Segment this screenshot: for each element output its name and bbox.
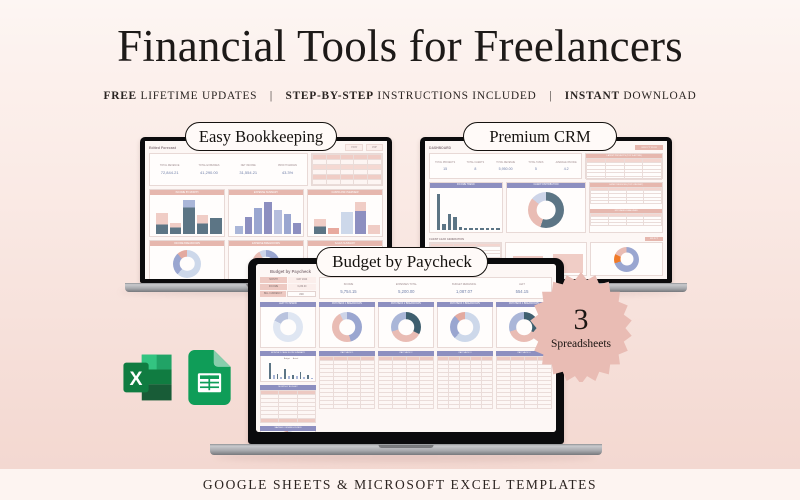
subtitle-part-2: STEP-BY-STEP INSTRUCTIONS INCLUDED — [285, 90, 536, 102]
field-label: MONTH — [260, 277, 287, 283]
badge-number: 3 — [574, 305, 589, 335]
table-row — [497, 405, 552, 409]
donut-chart — [332, 312, 362, 342]
front-laptop-screen: Budget by Paycheck MONTH MAY 2024 INCOME… — [256, 264, 556, 432]
paycheck-tab-title: Budget by Paycheck — [260, 269, 311, 274]
subtitle-bold-1: FREE — [104, 90, 137, 102]
kpi-label: BUDGET REMAINING — [435, 283, 493, 286]
kpi-value: 31,554.21 — [229, 170, 268, 175]
table-row — [591, 200, 662, 203]
crm-projects-table: LATEST PROJECTS (TOP 5 ACTIVE) — [585, 153, 663, 179]
kpi-label: TOTAL TASKS — [521, 162, 551, 164]
table-row-total — [261, 419, 316, 423]
crm-kpi-card: TOTAL PROJECTS15 TOTAL CLIENTS8 TOTAL RE… — [429, 153, 582, 179]
label-premium-crm: Premium CRM — [463, 122, 617, 151]
label-premium-crm-text: Premium CRM — [489, 127, 590, 147]
crm-section-title: CLIENT LEAD GENERATION — [429, 238, 464, 241]
footer-text: GOOGLE SHEETS & MICROSOFT EXCEL TEMPLATE… — [0, 469, 800, 500]
file-type-icons: X — [120, 350, 233, 405]
kpi-value: 15 — [430, 167, 460, 171]
deadlines-table — [590, 213, 662, 227]
donut-chart — [614, 247, 639, 272]
front-laptop-lid: Budget by Paycheck MONTH MAY 2024 INCOME… — [248, 258, 564, 444]
donut-chart — [277, 431, 299, 432]
subtitle-rest-1: LIFETIME UPDATES — [137, 90, 257, 102]
subtitle-separator-2: | — [540, 90, 561, 102]
kpi-label: PROFIT MARGIN — [268, 164, 307, 167]
chart-panel: CASHFLOW OVERVIEW — [307, 189, 383, 237]
chart-panel: INCOME BY MONTH — [149, 189, 225, 237]
kpi-label: TOTAL CLIENTS — [460, 162, 490, 164]
paycheck2-table — [378, 356, 434, 409]
kpi-label: TOTAL EXPENSES — [189, 164, 228, 167]
bookkeeping-tab-title: Edited Forecast — [149, 146, 176, 150]
subtitle-rest-3: DOWNLOAD — [620, 90, 697, 102]
kpi-value: 72,844.21 — [150, 170, 189, 175]
bar-chart — [437, 191, 500, 230]
donut-chart — [528, 192, 564, 228]
label-easy-bookkeeping: Easy Bookkeeping — [185, 122, 337, 151]
donut-chart — [450, 312, 480, 342]
front-laptop-base — [210, 444, 602, 455]
paycheck-dashboard: Budget by Paycheck MONTH MAY 2024 INCOME… — [256, 264, 556, 432]
crm-select-button[interactable]: SELECT — [645, 237, 663, 241]
bookkeeping-edit-button[interactable]: EDIT — [345, 144, 363, 151]
crm-side-tables: LATEST INVOICES (TOP 5 RECENT) UPCOMING … — [589, 182, 663, 233]
label-easy-bookkeeping-text: Easy Bookkeeping — [199, 127, 323, 147]
invoices-table — [590, 187, 662, 204]
label-budget-by-paycheck: Budget by Paycheck — [316, 247, 488, 277]
legend-item: Actual — [293, 358, 298, 360]
laptop-front: Budget by Paycheck MONTH MAY 2024 INCOME… — [248, 258, 564, 458]
sheets-icon-svg — [186, 350, 233, 405]
kpi-value: 41,290.00 — [189, 170, 228, 175]
bookkeeping-pdf-button[interactable]: PDF — [366, 144, 383, 151]
kpi-value: 8 — [460, 167, 490, 171]
field-label: INCOME — [260, 284, 287, 290]
chart-panel: EXPENSE SUMMARY — [228, 189, 304, 237]
bar-chart — [235, 198, 301, 234]
projects-table — [586, 158, 662, 180]
paycheck3-table — [437, 356, 493, 409]
paycheck-kpi-card: INCOME5,754.15 EXPENSES TOTAL5,200.00 BU… — [319, 277, 552, 299]
bar-chart — [156, 198, 222, 234]
kpi-label: LEFT — [493, 283, 551, 286]
donut-chart — [273, 312, 303, 342]
kpi-value: 1,087.07 — [435, 289, 493, 294]
microsoft-excel-icon: X — [120, 350, 175, 405]
badge-caption: Spreadsheets — [551, 338, 611, 350]
subtitle-part-1: FREE LIFETIME UPDATES — [104, 90, 258, 102]
donut-chart — [391, 312, 421, 342]
kpi-value: 5,950.00 — [491, 167, 521, 171]
table-row — [313, 180, 382, 185]
crm-select-year-button[interactable]: SELECT YEAR — [635, 145, 663, 150]
table-row — [587, 176, 662, 180]
bookkeeping-kpi-card: TOTAL REVENUE 72,844.21 TOTAL EXPENSES 4… — [149, 153, 308, 186]
kpi-label: INCOME — [320, 283, 378, 286]
donut-panel: INCOME BREAKDOWN — [149, 240, 225, 279]
label-budget-by-paycheck-text: Budget by Paycheck — [332, 252, 472, 272]
leadgen-donut — [590, 242, 663, 276]
field-value[interactable]: MAY 2024 — [288, 277, 315, 283]
subtitle-separator-1: | — [261, 90, 282, 102]
svg-text:X: X — [130, 368, 143, 390]
field-value[interactable]: USD — [287, 291, 315, 297]
table-row — [379, 405, 434, 409]
crm-tab-title: DASHBOARD — [429, 146, 451, 150]
kpi-label: AVERAGE INVOICE — [551, 162, 581, 164]
kpi-label: TOTAL REVENUE — [491, 162, 521, 164]
legend-item: Budget — [284, 358, 290, 360]
page-title: Financial Tools for Freelancers — [0, 22, 800, 72]
field-value[interactable]: 6,230.00 — [288, 284, 315, 290]
paycheck-side-fields: MONTH MAY 2024 INCOME 6,230.00 BILL CURR… — [260, 277, 316, 299]
crm-donut-panel: CLIENT DISTRIBUTION — [506, 182, 587, 233]
table-row — [591, 223, 662, 226]
excel-icon-svg: X — [120, 350, 175, 405]
donut-chart — [173, 250, 201, 278]
bookkeeping-month-table — [311, 153, 383, 186]
kpi-value: 4.2 — [551, 167, 581, 171]
subtitle-part-3: INSTANT DOWNLOAD — [565, 90, 697, 102]
kpi-label: TOTAL REVENUE — [150, 164, 189, 167]
crm-chart-panel: INCOME TREND — [429, 182, 503, 233]
kpi-value: 5,200.00 — [377, 289, 435, 294]
kpi-label: NET INCOME — [229, 164, 268, 167]
subtitle: FREE LIFETIME UPDATES | STEP-BY-STEP INS… — [0, 90, 800, 102]
table-row — [320, 405, 375, 409]
bar-chart — [314, 198, 380, 234]
monthly-budget-table — [260, 390, 316, 423]
month-table — [312, 154, 382, 185]
kpi-label: TOTAL PROJECTS — [430, 162, 460, 164]
kpi-value: 43.3% — [268, 170, 307, 175]
paycheck1-table — [319, 356, 375, 409]
google-sheets-icon — [186, 350, 233, 405]
kpi-value: 5 — [521, 167, 551, 171]
subtitle-rest-2: INSTRUCTIONS INCLUDED — [374, 90, 537, 102]
kpi-value: 5,754.15 — [320, 289, 378, 294]
field-label: BILL CURRENCY — [260, 291, 286, 297]
subtitle-bold-2: STEP-BY-STEP — [285, 90, 373, 102]
table-row — [438, 405, 493, 409]
kpi-label: EXPENSES TOTAL — [377, 283, 435, 286]
bar-chart — [269, 361, 313, 379]
subtitle-bold-3: INSTANT — [565, 90, 620, 102]
